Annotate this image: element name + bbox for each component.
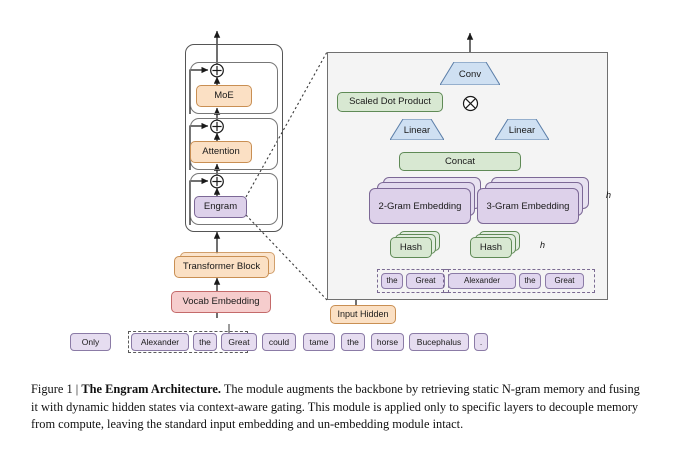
three-gram-embedding-stack[interactable]: 3-Gram Embedding [477, 177, 592, 222]
caption-title: The Engram Architecture. [81, 382, 221, 396]
sentence-token[interactable]: tame [303, 333, 335, 351]
linear-right-label: Linear [495, 125, 549, 136]
figure-container: MoE Attention Engram Transformer Block V… [0, 0, 677, 465]
sentence-token[interactable]: horse [371, 333, 404, 351]
input-hidden-node[interactable]: Input Hidden [330, 305, 396, 324]
three-gram-token[interactable]: Alexander [448, 273, 516, 289]
two-gram-embedding-stack[interactable]: 2-Gram Embedding [369, 177, 479, 222]
two-gram-hash-node[interactable]: Hash [390, 237, 432, 258]
three-gram-token[interactable]: Great [545, 273, 584, 289]
sentence-token[interactable]: could [262, 333, 296, 351]
block-attention[interactable]: Attention [190, 141, 252, 163]
two-gram-hash-stack[interactable]: Hash [390, 231, 442, 257]
engram-detail-panel [327, 52, 608, 300]
sentence-token[interactable]: the [193, 333, 217, 351]
block-engram[interactable]: Engram [194, 196, 247, 218]
two-gram-embedding-node[interactable]: 2-Gram Embedding [369, 188, 471, 224]
linear-right-node[interactable]: Linear [495, 119, 549, 140]
sentence-token[interactable]: Great [221, 333, 257, 351]
sentence-token[interactable]: . [474, 333, 488, 351]
three-gram-hash-heads-label: h [540, 240, 545, 250]
three-gram-embedding-node[interactable]: 3-Gram Embedding [477, 188, 579, 224]
two-gram-token[interactable]: Great [406, 273, 445, 289]
block-transformer[interactable]: Transformer Block [174, 256, 269, 278]
concat-node[interactable]: Concat [399, 152, 521, 171]
three-gram-token[interactable]: the [519, 273, 541, 289]
caption-figure-label: Figure 1 [31, 382, 73, 396]
three-gram-hash-stack[interactable]: Hash [470, 231, 522, 257]
sentence-token-row: Only Alexander the Great could tame the … [70, 333, 470, 353]
scaled-dot-product-node[interactable]: Scaled Dot Product [337, 92, 443, 112]
block-vocab-embedding[interactable]: Vocab Embedding [171, 291, 271, 313]
figure-caption: Figure 1 | The Engram Architecture. The … [31, 381, 647, 434]
sentence-token[interactable]: Alexander [131, 333, 189, 351]
block-moe[interactable]: MoE [196, 85, 252, 107]
three-gram-heads-label: h [606, 190, 611, 200]
two-gram-token[interactable]: the [381, 273, 403, 289]
sentence-token[interactable]: Only [70, 333, 111, 351]
three-gram-hash-node[interactable]: Hash [470, 237, 512, 258]
conv-node[interactable]: Conv [440, 62, 500, 85]
sentence-token[interactable]: the [341, 333, 365, 351]
gate-multiply[interactable] [462, 95, 479, 112]
linear-left-node[interactable]: Linear [390, 119, 444, 140]
caption-separator: | [76, 382, 78, 396]
sentence-token[interactable]: Bucephalus [409, 333, 469, 351]
linear-left-label: Linear [390, 125, 444, 136]
conv-label: Conv [440, 69, 500, 80]
